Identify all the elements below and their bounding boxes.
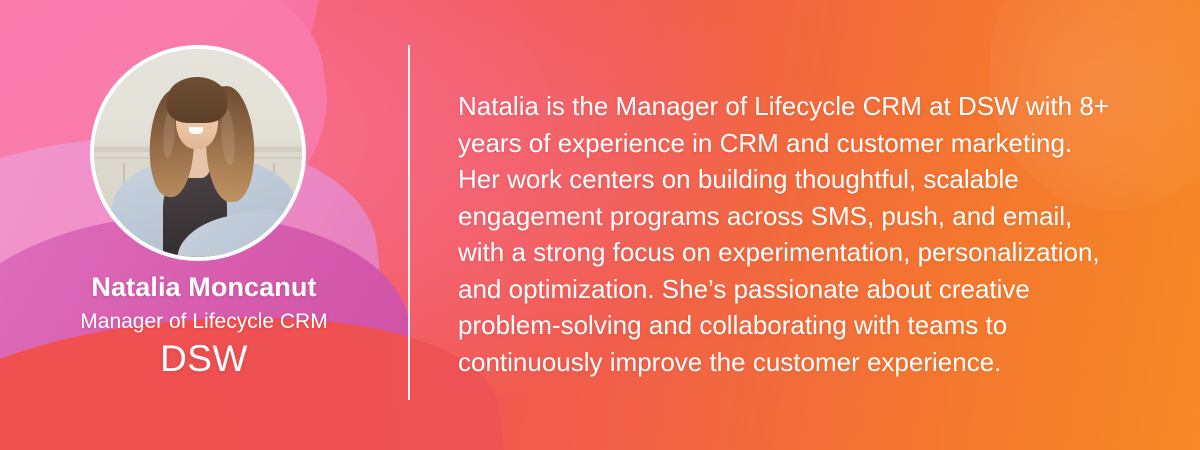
speaker-bio-line: Her work centers on building thoughtful,… <box>458 164 1019 194</box>
speaker-bio-line: with a strong focus on experimentation, … <box>458 237 1100 267</box>
speaker-bio-line: problem-solving and collaborating with t… <box>458 310 1007 340</box>
avatar <box>90 45 306 261</box>
speaker-bio-line: and optimization. She’s passionate about… <box>458 274 1030 304</box>
avatar-photo <box>94 49 302 257</box>
photo-subject-eye-left <box>184 112 189 115</box>
vertical-divider <box>408 45 410 400</box>
speaker-bio-line: engagement programs across SMS, push, an… <box>458 201 1072 231</box>
speaker-bio-line: years of experience in CRM and customer … <box>458 128 1072 158</box>
photo-subject-smile <box>189 127 204 134</box>
speaker-bio-line: continuously improve the customer experi… <box>458 347 1001 377</box>
speaker-bio-line: Natalia is the Manager of Lifecycle CRM … <box>458 91 1109 121</box>
photo-subject-hair-strand <box>220 109 236 166</box>
speaker-role: Manager of Lifecycle CRM <box>0 310 408 334</box>
speaker-company: DSW <box>0 338 408 380</box>
photo-subject-hair-top <box>167 77 227 123</box>
speaker-name: Natalia Moncanut <box>0 272 408 303</box>
speaker-bio: Natalia is the Manager of Lifecycle CRM … <box>458 88 1158 380</box>
speaker-profile-card: Natalia Moncanut Manager of Lifecycle CR… <box>0 0 1200 450</box>
photo-subject-eye-right <box>201 112 206 115</box>
profile-column: Natalia Moncanut Manager of Lifecycle CR… <box>0 0 408 450</box>
